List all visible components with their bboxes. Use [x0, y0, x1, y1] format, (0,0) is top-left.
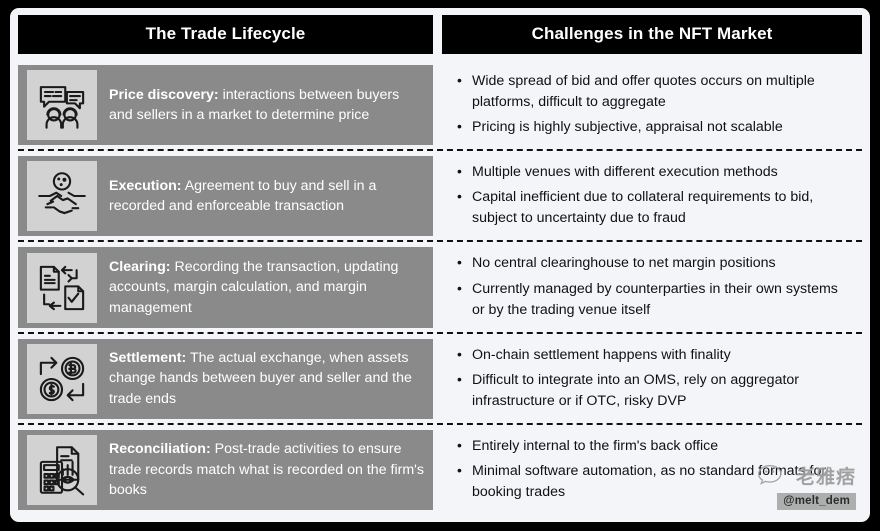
content-card: The Trade Lifecycle Challenges in the NF… [10, 8, 870, 522]
table-row: Execution: Agreement to buy and sell in … [18, 149, 862, 240]
lifecycle-cell-price-discovery: Price discovery: interactions between bu… [18, 65, 433, 145]
challenge-cell-settlement: On-chain settlement happens with finalit… [442, 334, 862, 423]
challenge-list: Multiple venues with different execution… [454, 162, 852, 229]
documents-exchange-check-icon [27, 253, 97, 323]
calculator-magnifier-report-icon [27, 435, 97, 505]
lifecycle-text: Settlement: The actual exchange, when as… [109, 348, 425, 410]
lifecycle-text: Clearing: Recording the transaction, upd… [109, 257, 425, 319]
challenge-list: No central clearinghouse to net margin p… [454, 253, 852, 320]
lifecycle-term: Execution: [109, 178, 182, 194]
table-row: Clearing: Recording the transaction, upd… [18, 240, 862, 331]
lifecycle-text: Execution: Agreement to buy and sell in … [109, 176, 425, 217]
challenge-cell-clearing: No central clearinghouse to net margin p… [442, 242, 862, 331]
lifecycle-term: Clearing: [109, 259, 171, 275]
lifecycle-cell-clearing: Clearing: Recording the transaction, upd… [18, 247, 433, 327]
handshake-icon [27, 161, 97, 231]
challenge-cell-execution: Multiple venues with different execution… [442, 151, 862, 240]
table-row: Reconciliation: Post-trade activities to… [18, 423, 862, 514]
currency-exchange-icon [27, 344, 97, 414]
lifecycle-cell-reconciliation: Reconciliation: Post-trade activities to… [18, 430, 433, 510]
list-item: Wide spread of bid and offer quotes occu… [454, 71, 852, 113]
list-item: Capital inefficient due to collateral re… [454, 187, 852, 229]
slide-frame: The Trade Lifecycle Challenges in the NF… [0, 0, 880, 531]
table-row: Price discovery: interactions between bu… [18, 60, 862, 149]
header-trade-lifecycle: The Trade Lifecycle [18, 15, 433, 54]
comparison-table: The Trade Lifecycle Challenges in the NF… [18, 15, 862, 514]
lifecycle-term: Settlement: [109, 350, 186, 366]
challenge-list: On-chain settlement happens with finalit… [454, 345, 852, 412]
table-header-row: The Trade Lifecycle Challenges in the NF… [18, 15, 862, 54]
list-item: Currently managed by counterparties in t… [454, 279, 852, 321]
list-item: Difficult to integrate into an OMS, rely… [454, 370, 852, 412]
lifecycle-text: Reconciliation: Post-trade activities to… [109, 439, 425, 501]
lifecycle-term: Price discovery: [109, 87, 219, 103]
list-item: Minimal software automation, as no stand… [454, 461, 852, 503]
challenge-cell-reconciliation: Entirely internal to the firm's back off… [442, 425, 862, 514]
lifecycle-text: Price discovery: interactions between bu… [109, 85, 425, 126]
table-body: Price discovery: interactions between bu… [18, 60, 862, 514]
lifecycle-cell-execution: Execution: Agreement to buy and sell in … [18, 156, 433, 236]
list-item: Entirely internal to the firm's back off… [454, 436, 852, 457]
lifecycle-term: Reconciliation: [109, 441, 211, 457]
speech-bubbles-people-icon [27, 70, 97, 140]
table-row: Settlement: The actual exchange, when as… [18, 332, 862, 423]
challenge-cell-price-discovery: Wide spread of bid and offer quotes occu… [442, 60, 862, 149]
header-nft-challenges: Challenges in the NFT Market [442, 15, 862, 54]
list-item: On-chain settlement happens with finalit… [454, 345, 852, 366]
lifecycle-cell-settlement: Settlement: The actual exchange, when as… [18, 339, 433, 419]
challenge-list: Wide spread of bid and offer quotes occu… [454, 71, 852, 138]
challenge-list: Entirely internal to the firm's back off… [454, 436, 852, 503]
list-item: No central clearinghouse to net margin p… [454, 253, 852, 274]
list-item: Pricing is highly subjective, appraisal … [454, 117, 852, 138]
list-item: Multiple venues with different execution… [454, 162, 852, 183]
